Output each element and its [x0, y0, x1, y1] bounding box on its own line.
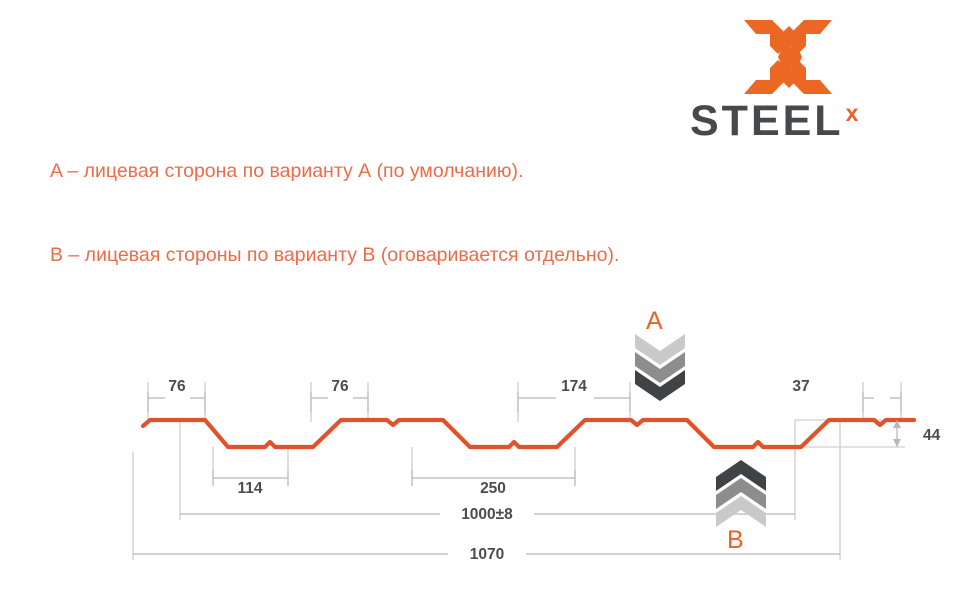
dimension-lines [133, 392, 901, 554]
profile-section-line [143, 420, 914, 447]
dim-76-left: 76 [168, 378, 186, 395]
dim-114: 114 [237, 480, 262, 497]
dim-44: 44 [923, 427, 941, 444]
marker-b-label: B [727, 526, 744, 555]
dimension-labels: 76 76 174 37 114 250 1000±8 1070 44 [168, 378, 940, 563]
dim-1000: 1000±8 [461, 506, 513, 523]
dim-37: 37 [792, 378, 809, 395]
dim-76-mid: 76 [331, 378, 349, 395]
marker-a-chevrons [635, 334, 685, 401]
dim-174: 174 [561, 378, 587, 395]
marker-a-label: A [646, 307, 663, 336]
drawing-page: STEEL x A – лицевая сторона по варианту … [0, 0, 970, 597]
dim-250: 250 [480, 480, 506, 497]
witness-lines [133, 382, 905, 560]
dim-1070: 1070 [470, 546, 504, 563]
marker-b-chevrons [716, 460, 766, 527]
profile-technical-drawing: 76 76 174 37 114 250 1000±8 1070 44 [0, 0, 970, 597]
